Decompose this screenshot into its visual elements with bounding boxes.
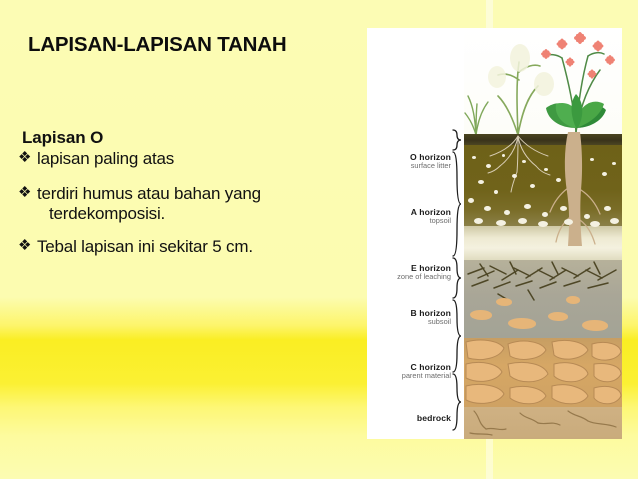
bedrock-cracks-group [464, 407, 622, 439]
soil-speckle [472, 156, 476, 159]
soil-speckle [602, 172, 607, 176]
soil-speckle [564, 219, 573, 225]
bullet-diamond-icon: ❖ [18, 149, 37, 168]
soil-speckle [610, 218, 619, 224]
brace-c [453, 374, 461, 430]
stone [566, 296, 580, 304]
horizon-name: bedrock [367, 414, 451, 423]
page-title: LAPISAN-LAPISAN TANAH [28, 33, 287, 57]
soil-speckle [522, 160, 526, 163]
soil-speckle [504, 210, 510, 215]
soil-speckle [590, 221, 600, 227]
subheading: Lapisan O [22, 128, 348, 148]
soil-speckle [530, 184, 535, 188]
soil-speckle [484, 206, 491, 211]
list-item-text: lapisan paling atas [37, 149, 174, 168]
soil-speckle [538, 221, 548, 227]
soil-speckle [468, 198, 474, 203]
cobble-mosaic-group [464, 338, 622, 408]
root-system-group [464, 128, 622, 248]
horizon-sub: topsoil [367, 217, 451, 225]
list-item: ❖ lapisan paling atas [18, 149, 348, 168]
stone [582, 320, 608, 331]
soil-speckle [502, 154, 505, 157]
list-item-text: terdiri humus atau bahan yang [37, 184, 261, 203]
organic-debris-group [464, 256, 622, 316]
stone [470, 310, 492, 320]
horizon-label-o: O horizon surface litter [367, 153, 451, 170]
stone [548, 312, 568, 321]
horizon-label-a: A horizon topsoil [367, 208, 451, 225]
soil-horizon-diagram: O horizon surface litter A horizon topso… [367, 28, 622, 439]
soil-speckle [612, 162, 616, 165]
horizon-label-bedrock: bedrock [367, 414, 451, 423]
horizon-sub: parent material [367, 372, 451, 380]
brace-a [453, 152, 461, 256]
soil-speckle [556, 178, 561, 182]
stone [508, 318, 536, 329]
soil-speckle [604, 206, 611, 211]
soil-speckle [518, 218, 527, 224]
soil-speckle [544, 168, 548, 171]
soil-speckle [496, 220, 506, 226]
soil-speckle [590, 158, 594, 161]
soil-speckle [512, 174, 517, 178]
soil-speckle [542, 212, 548, 217]
soil-speckle [478, 180, 484, 184]
brace-e [453, 258, 461, 298]
soil-speckle [560, 206, 567, 211]
horizon-label-e: E horizon zone of leaching [367, 264, 451, 281]
soil-speckle [494, 190, 498, 194]
flower-cluster-icon [541, 32, 615, 79]
soil-speckle [584, 214, 590, 219]
horizon-label-b: B horizon subsoil [367, 309, 451, 326]
stone [496, 298, 512, 306]
horizon-label-list: O horizon surface litter A horizon topso… [367, 28, 451, 439]
list-item-text: Tebal lapisan ini sekitar 5 cm. [37, 237, 253, 256]
horizon-sub: surface litter [367, 162, 451, 170]
leaf-group-icon [546, 94, 606, 128]
horizon-label-c: C horizon parent material [367, 363, 451, 380]
content-body: Lapisan O ❖ lapisan paling atas ❖ terdir… [18, 128, 348, 273]
bullet-diamond-icon: ❖ [18, 184, 37, 203]
horizon-sub: zone of leaching [367, 273, 451, 281]
list-item-text-continued: terdekomposisi. [37, 204, 348, 223]
soil-speckle [474, 218, 483, 224]
list-item: ❖ terdiri humus atau bahan yang terdekom… [18, 184, 348, 223]
horizon-brace-group [451, 28, 464, 439]
list-item: ❖ Tebal lapisan ini sekitar 5 cm. [18, 237, 348, 256]
soil-column [464, 28, 622, 439]
bullet-diamond-icon: ❖ [18, 237, 37, 256]
horizon-sub: subsoil [367, 318, 451, 326]
brace-o [453, 130, 461, 150]
soil-speckle [524, 204, 531, 209]
brace-b [453, 300, 461, 372]
slide-canvas: LAPISAN-LAPISAN TANAH Lapisan O ❖ lapisa… [0, 0, 638, 479]
soil-speckle [486, 164, 491, 168]
